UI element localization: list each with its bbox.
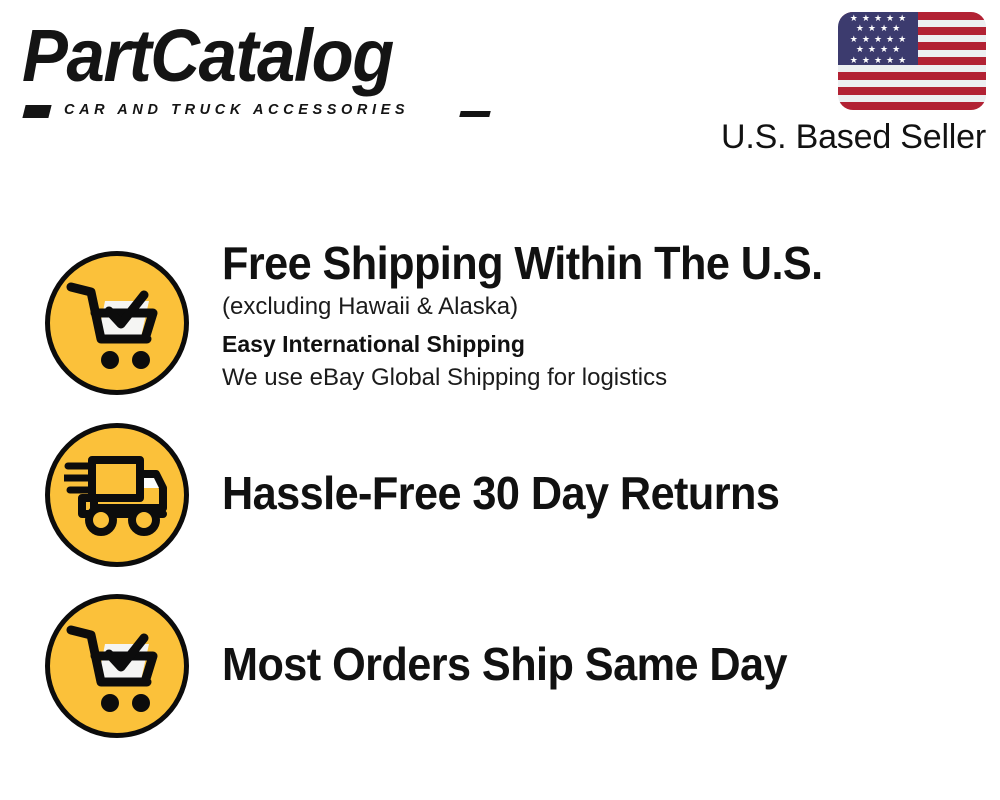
star-icon: ★ xyxy=(898,56,906,65)
star-icon: ★ xyxy=(850,35,858,44)
star-icon: ★ xyxy=(874,14,882,23)
feature-row: Most Orders Ship Same Day xyxy=(0,582,1000,752)
star-icon: ★ xyxy=(862,35,870,44)
star-icon: ★ xyxy=(892,45,900,54)
star-icon: ★ xyxy=(886,35,894,44)
star-icon: ★ xyxy=(868,45,876,54)
star-icon: ★ xyxy=(850,56,858,65)
feature-sub-title: Easy International Shipping xyxy=(222,329,980,360)
flag-stripe xyxy=(838,87,986,95)
star-icon: ★ xyxy=(856,45,864,54)
star-icon: ★ xyxy=(874,35,882,44)
flag-star-row: ★★★★ xyxy=(838,24,918,35)
star-icon: ★ xyxy=(850,14,858,23)
star-icon: ★ xyxy=(886,14,894,23)
brand-tagline-row: CAR AND TRUCK ACCESSORIES xyxy=(24,102,490,122)
flag-stripe xyxy=(838,80,986,88)
star-icon: ★ xyxy=(898,35,906,44)
flag-star-row: ★★★★★ xyxy=(838,55,918,66)
feature-text: Free Shipping Within The U.S. (excluding… xyxy=(222,237,980,394)
star-icon: ★ xyxy=(856,24,864,33)
flag-star-row: ★★★★★ xyxy=(838,13,918,24)
shopping-cart-check-icon xyxy=(45,251,189,395)
feature-row: Hassle-Free 30 Day Returns xyxy=(0,412,1000,582)
flag-stripe xyxy=(838,72,986,80)
star-icon: ★ xyxy=(880,45,888,54)
star-icon: ★ xyxy=(880,24,888,33)
feature-note: (excluding Hawaii & Alaska) xyxy=(222,291,980,323)
star-icon: ★ xyxy=(862,14,870,23)
seller-badge: ★★★★★★★★★★★★★★★★★★★★★★★ U.S. Based Selle… xyxy=(706,12,986,162)
star-icon: ★ xyxy=(898,14,906,23)
feature-sub-note: We use eBay Global Shipping for logistic… xyxy=(222,361,980,394)
flag-star-row: ★★★★★ xyxy=(838,34,918,45)
brand-wordmark: PartCatalog xyxy=(22,18,459,94)
feature-row: Free Shipping Within The U.S. (excluding… xyxy=(0,237,1000,412)
shopping-cart-check-icon xyxy=(45,594,189,738)
star-icon: ★ xyxy=(892,24,900,33)
flag-stripe xyxy=(838,65,986,73)
seller-label: U.S. Based Seller xyxy=(721,117,986,157)
feature-title: Most Orders Ship Same Day xyxy=(222,638,935,690)
feature-title: Hassle-Free 30 Day Returns xyxy=(222,467,935,519)
banner-header: PartCatalog CAR AND TRUCK ACCESSORIES ★★… xyxy=(0,0,1000,175)
tagline-right-rule xyxy=(459,111,490,117)
brand-tagline: CAR AND TRUCK ACCESSORIES xyxy=(64,102,409,118)
feature-text: Most Orders Ship Same Day xyxy=(222,638,980,690)
feature-list: Free Shipping Within The U.S. (excluding… xyxy=(0,237,1000,752)
us-flag-icon: ★★★★★★★★★★★★★★★★★★★★★★★ xyxy=(838,12,986,110)
star-icon: ★ xyxy=(862,56,870,65)
brand-logo: PartCatalog CAR AND TRUCK ACCESSORIES xyxy=(22,18,492,118)
tagline-left-rule xyxy=(22,105,51,118)
flag-canton: ★★★★★★★★★★★★★★★★★★★★★★★ xyxy=(838,12,918,65)
star-icon: ★ xyxy=(868,24,876,33)
flag-stripe xyxy=(838,102,986,110)
feature-text: Hassle-Free 30 Day Returns xyxy=(222,467,980,519)
star-icon: ★ xyxy=(874,56,882,65)
flag-star-row: ★★★★ xyxy=(838,45,918,56)
feature-title: Free Shipping Within The U.S. xyxy=(222,237,935,289)
delivery-truck-icon xyxy=(45,423,189,567)
star-icon: ★ xyxy=(886,56,894,65)
flag-stripe xyxy=(838,95,986,103)
